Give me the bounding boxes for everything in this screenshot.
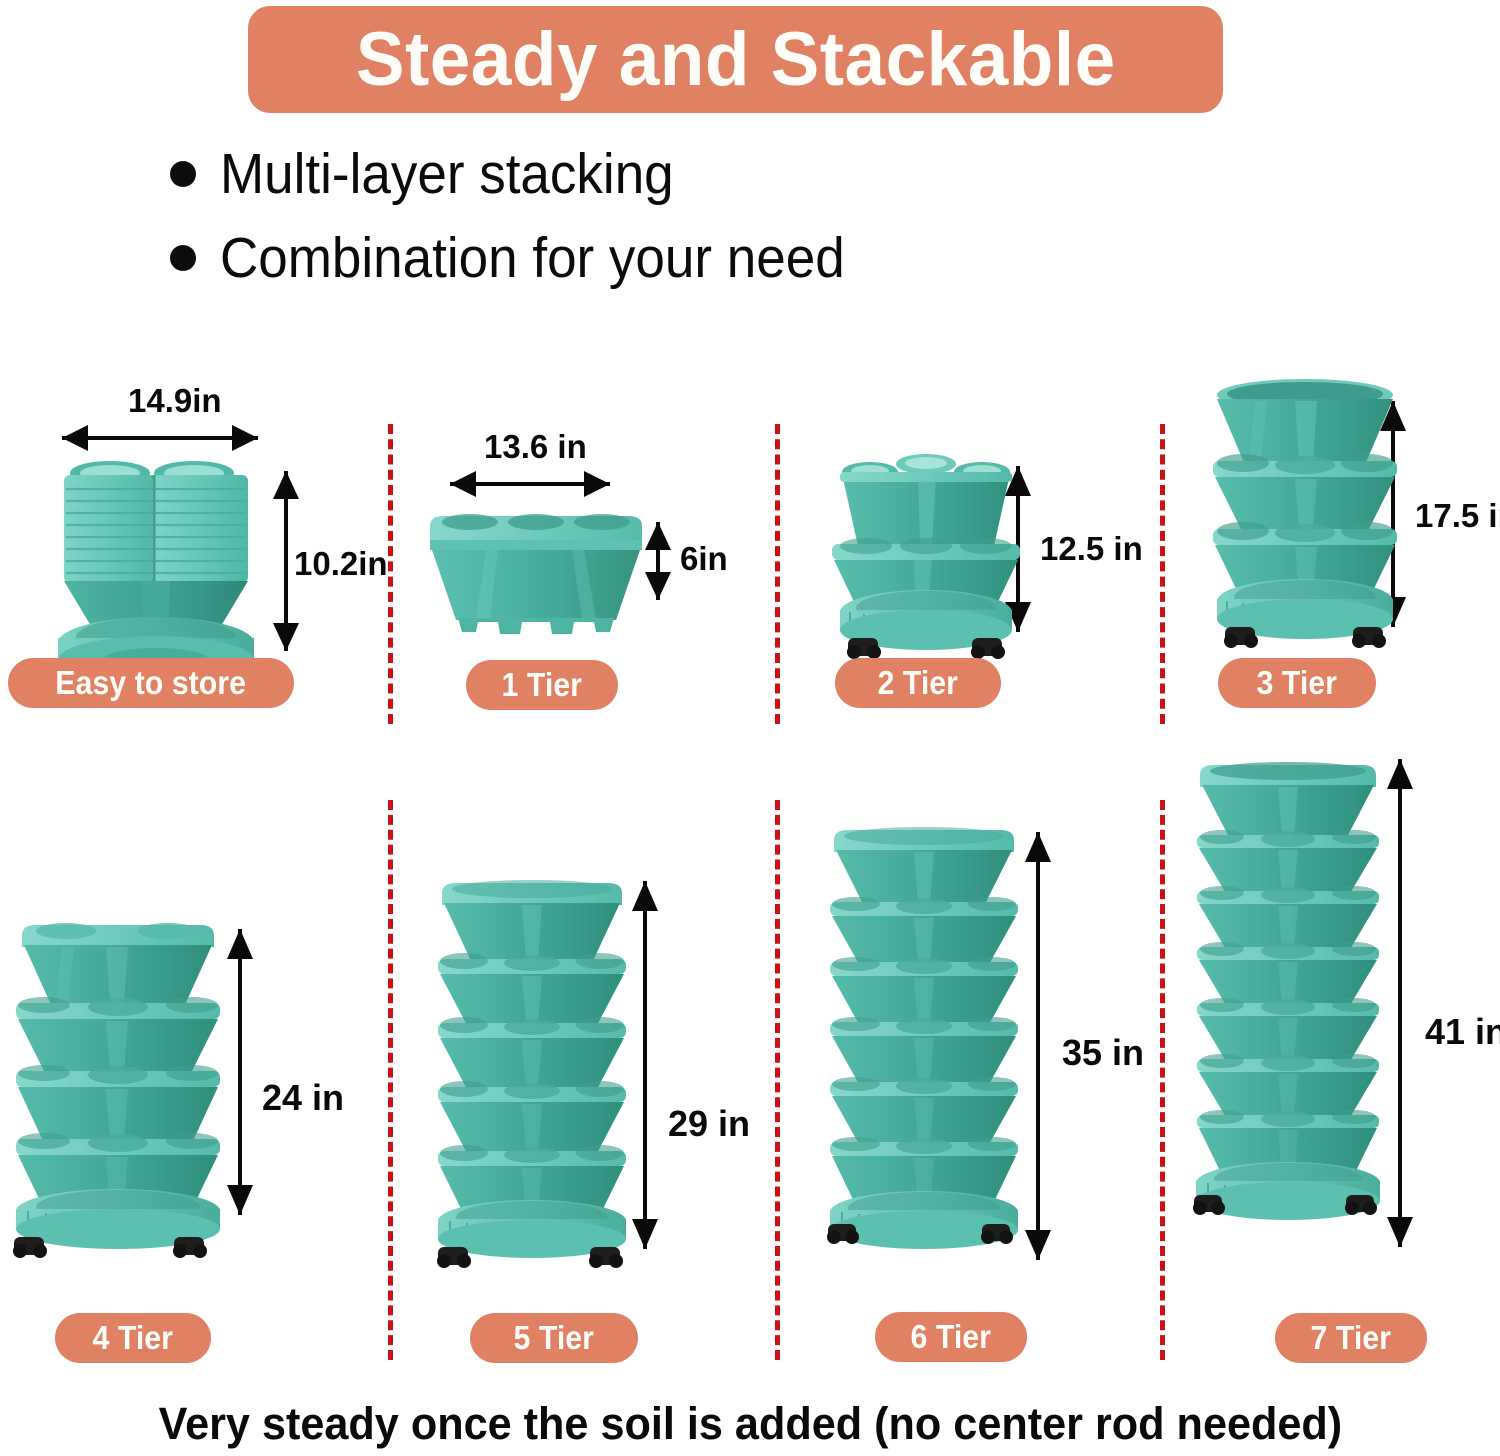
badge-label: 3 Tier: [1257, 664, 1337, 702]
page-title: Steady and Stackable: [356, 16, 1116, 103]
badge-tier-2: 2 Tier: [835, 658, 1001, 708]
planter-graphic-tier-7: [1190, 757, 1385, 1297]
badge-label: 5 Tier: [514, 1319, 594, 1357]
caster-wheel-icon: [1352, 627, 1386, 648]
planter-graphic-tier-5: [432, 875, 632, 1295]
column-divider: [1160, 424, 1165, 724]
height-dimension-label: 29 in: [668, 1103, 750, 1145]
planter-graphic-tier-4: [8, 917, 228, 1257]
bullet-label: Combination for your need: [220, 225, 845, 291]
badge-label: Easy to store: [56, 664, 247, 702]
caster-wheel-icon: [971, 638, 1005, 659]
width-dimension-label: 14.9in: [128, 382, 222, 420]
width-dimension-arrow: [428, 464, 668, 504]
badge-tier-1: 1 Tier: [466, 660, 618, 710]
bullet-dot-icon: [170, 161, 196, 187]
planter-graphic-tier-1: [426, 510, 646, 640]
height-dimension-arrow: [1380, 745, 1420, 1265]
badge-label: 6 Tier: [911, 1318, 991, 1356]
height-dimension-label: 35 in: [1062, 1032, 1144, 1074]
column-divider: [1160, 800, 1165, 1360]
badge-tier-3: 3 Tier: [1218, 658, 1376, 708]
product-cell-tier-2: 12.5 in: [790, 430, 1160, 710]
column-divider: [775, 424, 780, 724]
list-item: Multi-layer stacking: [170, 132, 1170, 216]
infographic-page: Steady and Stackable Multi-layer stackin…: [0, 0, 1500, 1456]
bullet-dot-icon: [170, 245, 196, 271]
caster-wheel-icon: [981, 1224, 1013, 1244]
caster-wheel-icon: [1224, 627, 1258, 648]
planter-graphic-tier-2: [826, 450, 1026, 670]
badge-label: 4 Tier: [93, 1319, 173, 1357]
badge-tier-7: 7 Tier: [1275, 1313, 1427, 1363]
height-dimension-label: 10.2in: [294, 545, 388, 583]
caster-wheel-icon: [1345, 1195, 1377, 1215]
planter-graphic-tier-6: [822, 822, 1022, 1302]
height-dimension-arrow: [1018, 818, 1058, 1278]
bullet-label: Multi-layer stacking: [220, 141, 674, 207]
footer-caption-text: Very steady once the soil is added (no c…: [158, 1398, 1342, 1450]
height-dimension-label: 17.5 in: [1415, 497, 1500, 535]
badge-tier-6: 6 Tier: [875, 1312, 1027, 1362]
caster-wheel-icon: [173, 1237, 207, 1258]
badge-label: 1 Tier: [502, 666, 582, 704]
height-dimension-label: 24 in: [262, 1077, 344, 1119]
caster-wheel-icon: [589, 1247, 623, 1268]
feature-bullet-list: Multi-layer stacking Combination for you…: [170, 132, 1170, 300]
product-cell-easy-to-store: 14.9in 10.2in: [0, 390, 390, 710]
caster-wheel-icon: [13, 1237, 47, 1258]
column-divider: [775, 800, 780, 1360]
badge-label: 2 Tier: [878, 664, 958, 702]
height-dimension-label: 6in: [680, 540, 728, 578]
caster-wheel-icon: [437, 1247, 471, 1268]
badge-label: 7 Tier: [1311, 1319, 1391, 1357]
product-cell-tier-3: 17.5 in: [1175, 365, 1500, 710]
product-cell-tier-4: 24 in: [0, 905, 390, 1355]
badge-tier-4: 4 Tier: [55, 1313, 211, 1363]
page-title-badge: Steady and Stackable: [248, 6, 1223, 113]
planter-graphic-tier-3: [1205, 375, 1405, 665]
product-cell-tier-7: 41 in: [1175, 735, 1500, 1360]
badge-tier-5: 5 Tier: [470, 1313, 638, 1363]
height-dimension-label: 41 in: [1425, 1011, 1500, 1053]
footer-caption: Very steady once the soil is added (no c…: [0, 1398, 1500, 1450]
product-cell-tier-5: 29 in: [400, 855, 775, 1355]
caster-wheel-icon: [847, 638, 881, 659]
list-item: Combination for your need: [170, 216, 1170, 300]
product-cell-tier-6: 35 in: [790, 800, 1160, 1360]
caster-wheel-icon: [827, 1224, 859, 1244]
caster-wheel-icon: [1193, 1195, 1225, 1215]
height-dimension-label: 12.5 in: [1040, 530, 1143, 568]
width-dimension-label: 13.6 in: [484, 428, 587, 466]
product-cell-tier-1: 13.6 in 6in: [400, 420, 775, 710]
badge-easy-to-store: Easy to store: [8, 658, 294, 708]
